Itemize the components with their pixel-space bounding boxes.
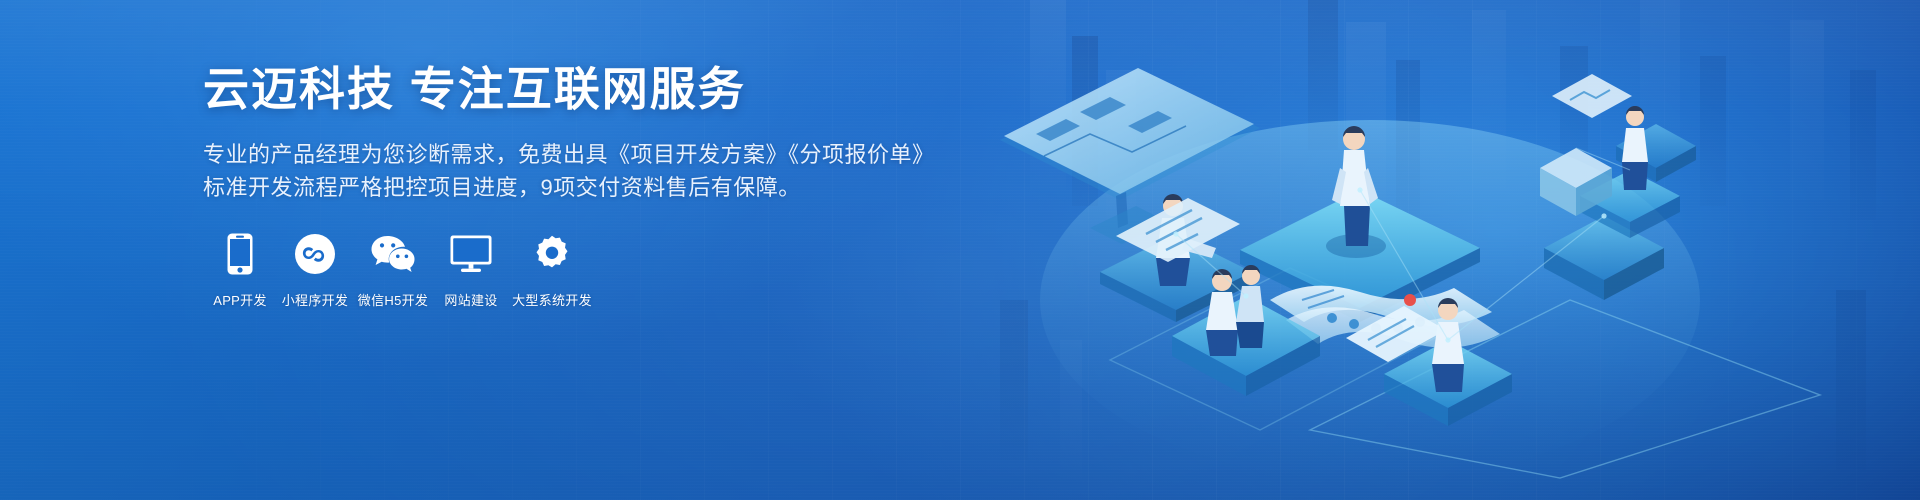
mini-program-icon — [295, 232, 335, 276]
hero-banner: 云迈科技 专注互联网服务 专业的产品经理为您诊断需求，免费出具《项目开发方案》《… — [0, 0, 1920, 500]
subtitle-line-2: 标准开发流程严格把控项目进度，9项交付资料售后有保障。 — [203, 171, 903, 204]
hero-subtitle: 专业的产品经理为您诊断需求，免费出具《项目开发方案》《分项报价单》 标准开发流程… — [203, 112, 903, 204]
service-label-system: 大型系统开发 — [512, 290, 592, 309]
service-item-system[interactable]: 大型系统开发 — [509, 232, 595, 309]
illustration-card-chart — [1552, 74, 1632, 118]
hero-text-block: 云迈科技 专注互联网服务 专业的产品经理为您诊断需求，免费出具《项目开发方案》《… — [203, 66, 903, 204]
monitor-icon — [450, 232, 492, 276]
service-item-wechat[interactable]: 微信H5开发 — [353, 232, 433, 309]
service-label-miniprogram: 小程序开发 — [282, 290, 349, 309]
service-label-app: APP开发 — [213, 290, 267, 309]
gear-icon — [532, 232, 572, 276]
mobile-phone-icon — [227, 232, 253, 276]
service-label-website: 网站建设 — [444, 290, 497, 309]
service-label-wechat: 微信H5开发 — [358, 290, 428, 309]
hero-illustration — [940, 0, 1920, 500]
subtitle-line-1: 专业的产品经理为您诊断需求，免费出具《项目开发方案》《分项报价单》 — [203, 138, 903, 171]
service-list: APP开发 小程序开发 微信 — [203, 232, 595, 309]
page-title: 云迈科技 专注互联网服务 — [203, 66, 903, 112]
service-item-miniprogram[interactable]: 小程序开发 — [277, 232, 353, 309]
wechat-icon — [370, 232, 416, 276]
service-item-app[interactable]: APP开发 — [203, 232, 277, 309]
service-item-website[interactable]: 网站建设 — [433, 232, 509, 309]
illustration-person-3 — [1622, 106, 1648, 190]
